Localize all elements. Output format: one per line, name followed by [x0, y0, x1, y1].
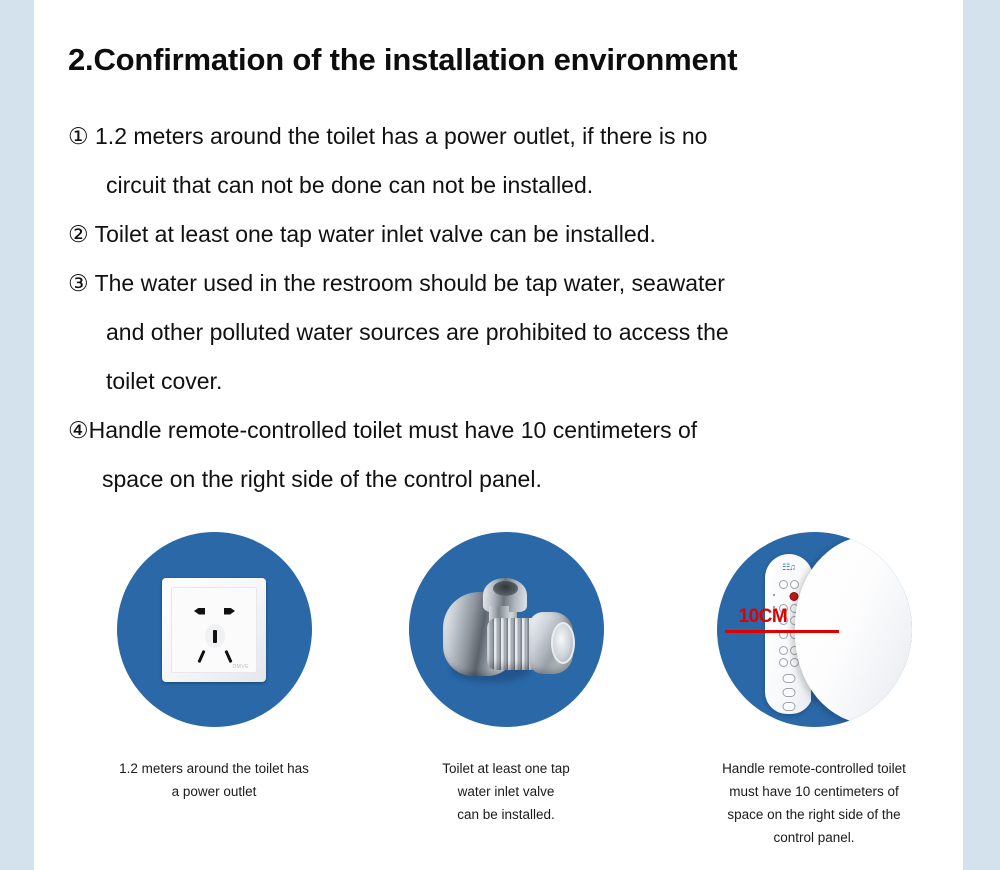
list-item-line: ④Handle remote-controlled toilet must ha… [68, 406, 948, 455]
socket-slot-earth [213, 630, 217, 643]
measurement-label: 10CM [739, 606, 788, 628]
list-item-line: space on the right side of the control p… [68, 455, 948, 504]
valve-inlet-bore [493, 581, 518, 596]
panel-button-row [782, 702, 795, 711]
panel-button-wide [782, 674, 795, 683]
socket-slot-right [224, 608, 235, 615]
list-item-line: ① 1.2 meters around the toilet has a pow… [68, 112, 948, 161]
figure-row: DMVE 1.2 meters around the toilet hasa p… [34, 532, 963, 852]
panel-button-row [782, 674, 795, 683]
requirements-list: ① 1.2 meters around the toilet has a pow… [68, 112, 948, 504]
panel-button [779, 646, 788, 655]
panel-button-wide [782, 702, 795, 711]
toilet-illustration: ☷♫ [717, 532, 912, 727]
list-item: ④Handle remote-controlled toilet must ha… [68, 406, 948, 504]
list-item-line: ② Toilet at least one tap water inlet va… [68, 210, 948, 259]
list-item-line: toilet cover. [68, 357, 948, 406]
figure-image-wrap: DMVE [117, 532, 312, 727]
brand-logo-icon: ☷♫ [782, 562, 795, 573]
socket-brand-label: DMVE [233, 664, 249, 670]
valve-handle-face [551, 622, 575, 664]
socket-slot-neutral [224, 649, 232, 662]
socket-slot-left [194, 608, 205, 615]
figure-control-panel: ☷♫ [664, 532, 964, 849]
list-item-line: circuit that can not be done can not be … [68, 161, 948, 210]
measurement-line [725, 630, 839, 633]
panel-button-row [782, 688, 795, 697]
socket-face: DMVE [171, 587, 257, 673]
panel-indicator-dot [773, 594, 775, 596]
figure-image-wrap [409, 532, 604, 727]
figure-caption: Toilet at least one tapwater inlet valve… [356, 757, 656, 826]
angle-valve-icon [431, 570, 581, 690]
list-item: ① 1.2 meters around the toilet has a pow… [68, 112, 948, 210]
list-item-line: ③ The water used in the restroom should … [68, 259, 948, 308]
figure-angle-valve: Toilet at least one tapwater inlet valve… [356, 532, 656, 826]
list-item: ② Toilet at least one tap water inlet va… [68, 210, 948, 259]
panel-button-row [779, 580, 799, 589]
figure-caption: 1.2 meters around the toilet hasa power … [64, 757, 364, 803]
panel-button [790, 580, 799, 589]
wall-socket-icon: DMVE [162, 578, 266, 682]
figure-caption: Handle remote-controlled toiletmust have… [664, 757, 964, 849]
page-title: 2.Confirmation of the installation envir… [68, 42, 737, 78]
figure-image-wrap: ☷♫ [717, 532, 912, 727]
blue-circle-backdrop: ☷♫ [717, 532, 912, 727]
blue-circle-backdrop [409, 532, 604, 727]
panel-button [779, 580, 788, 589]
panel-button [779, 658, 788, 667]
panel-button-row [789, 592, 798, 601]
list-item: ③ The water used in the restroom should … [68, 259, 948, 406]
panel-button-power [789, 592, 798, 601]
figure-power-outlet: DMVE 1.2 meters around the toilet hasa p… [64, 532, 364, 803]
socket-slot-live [197, 649, 205, 662]
list-item-line: and other polluted water sources are pro… [68, 308, 948, 357]
panel-button-row [779, 658, 799, 667]
panel-button-wide [782, 688, 795, 697]
document-page: 2.Confirmation of the installation envir… [34, 0, 963, 870]
blue-circle-backdrop: DMVE [117, 532, 312, 727]
